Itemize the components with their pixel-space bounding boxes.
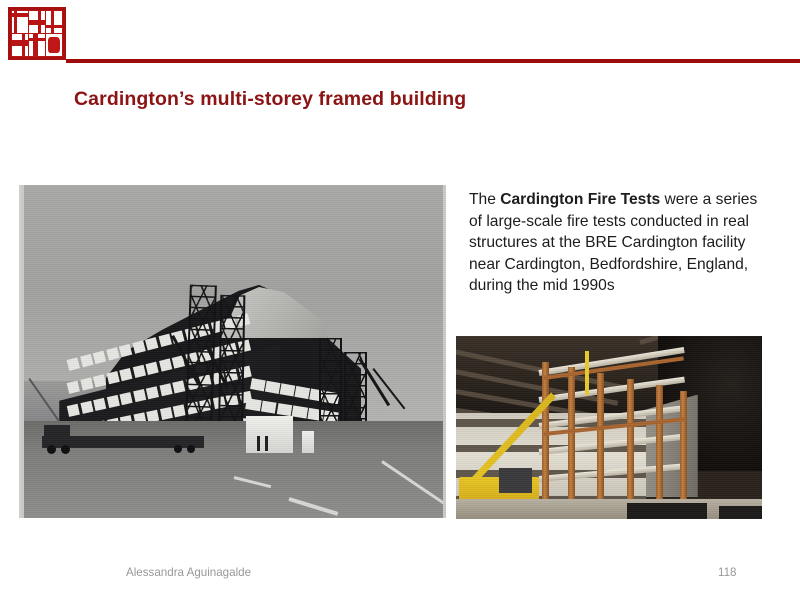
body-emphasis-text: Cardington Fire Tests [500, 191, 660, 208]
photo-steel-frame-building [539, 362, 686, 508]
photo-road-marking [381, 460, 446, 505]
photo-truck-wheel [47, 445, 56, 454]
seal-glyph-3 [46, 11, 62, 33]
seal-glyph-5 [29, 34, 45, 56]
footer-page-number: 118 [718, 566, 736, 579]
seal-character-grid [12, 11, 62, 56]
photo-truck-wheel [174, 445, 182, 453]
slide-canvas: Cardington’s multi-storey framed buildin… [0, 0, 800, 600]
body-lead-text: The [469, 191, 500, 208]
body-paragraph: The Cardington Fire Tests were a series … [469, 189, 761, 297]
photo-crane-cab [499, 468, 533, 494]
page-title: Cardington’s multi-storey framed buildin… [74, 88, 714, 111]
footer-author: Alessandra Aguinagalde [126, 566, 251, 579]
photo-steel-column [656, 385, 663, 508]
photo-steel-column [597, 373, 604, 508]
photo-white-booth [302, 431, 315, 453]
photo-hangar-floor [456, 499, 762, 519]
photo-steel-column [680, 391, 687, 508]
photo-hoist-cable [585, 351, 589, 395]
photo-person [265, 436, 268, 451]
red-seal-stamp-logo [8, 7, 66, 60]
photo-steel-column [568, 367, 575, 508]
photo-truck-wheel [187, 445, 195, 453]
photo-truck-cab [44, 425, 70, 440]
header-divider-rule [66, 59, 800, 63]
photo-road-marking [233, 476, 271, 488]
photo-foreground-vehicle [627, 503, 707, 519]
photo-foreground-vehicle [719, 506, 762, 519]
photo-concrete-floor-slab [538, 463, 685, 482]
photo-road-marking [288, 497, 338, 516]
cardington-steel-frame-interior-photo [456, 336, 762, 519]
seal-glyph-6 [46, 34, 62, 56]
seal-glyph-4 [12, 34, 28, 56]
photo-film-edge-right [443, 185, 446, 518]
photo-steel-column [627, 379, 634, 508]
seal-glyph-1 [12, 11, 28, 33]
photo-person [257, 436, 260, 451]
photo-white-kiosk [246, 416, 293, 453]
photo-film-edge-left [21, 185, 24, 518]
seal-glyph-2 [29, 11, 45, 33]
cardington-hangar-exterior-photo [19, 185, 446, 518]
